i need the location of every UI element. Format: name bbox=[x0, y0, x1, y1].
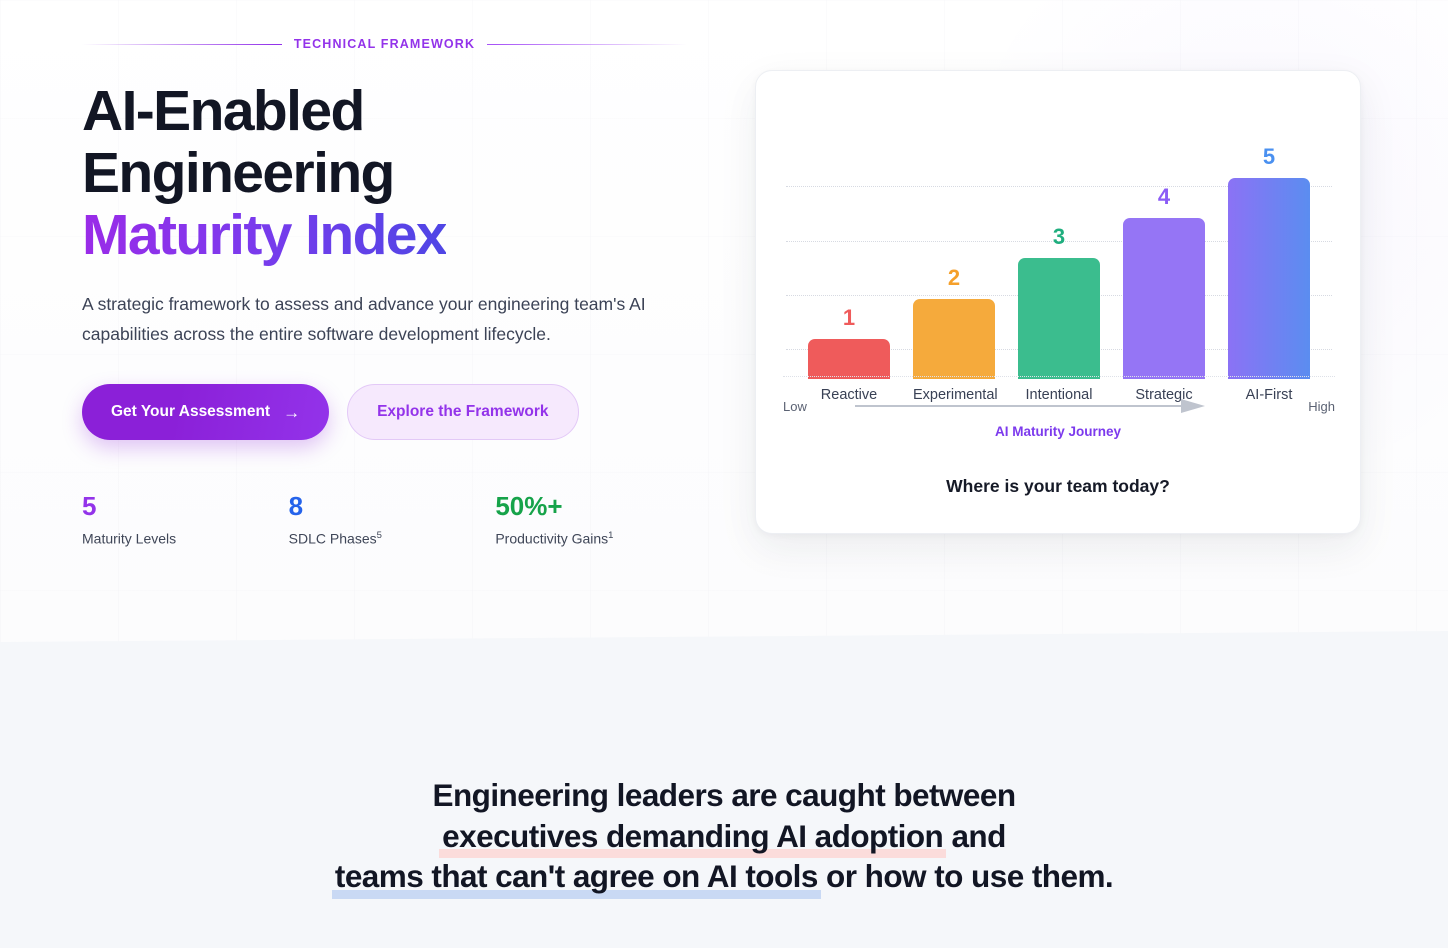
bar-value-label: 3 bbox=[1053, 226, 1065, 248]
hero-page: TECHNICAL FRAMEWORK AI-Enabled Engineeri… bbox=[0, 0, 1448, 948]
hero-subtitle: A strategic framework to assess and adva… bbox=[82, 290, 647, 349]
stat-productivity-gains: 50%+ Productivity Gains1 bbox=[495, 493, 702, 547]
page-title: AI-Enabled Engineering Maturity Index bbox=[82, 80, 702, 266]
bar-value-label: 2 bbox=[948, 267, 960, 289]
stat-label-text: Maturity Levels bbox=[82, 531, 176, 547]
bar-value-label: 1 bbox=[843, 307, 855, 329]
cta-row: Get Your Assessment → Explore the Framew… bbox=[82, 384, 702, 440]
arrow-right-icon: → bbox=[283, 404, 300, 421]
stat-label: Productivity Gains1 bbox=[495, 530, 702, 547]
title-line-3: Maturity Index bbox=[82, 204, 446, 266]
scale-arrow-track bbox=[855, 399, 1263, 413]
highlight-executives: executives demanding AI adoption bbox=[442, 816, 943, 857]
stats-row: 5 Maturity Levels 8 SDLC Phases5 50%+ Pr… bbox=[82, 493, 702, 547]
stat-maturity-levels: 5 Maturity Levels bbox=[82, 493, 289, 547]
statement-line-2-post: and bbox=[943, 818, 1006, 854]
bar-chart: 12345 bbox=[786, 94, 1332, 379]
hero-left-column: TECHNICAL FRAMEWORK AI-Enabled Engineeri… bbox=[82, 30, 702, 547]
bar[interactable] bbox=[1018, 258, 1100, 379]
stat-label-text: SDLC Phases bbox=[289, 531, 377, 547]
statement-line-3-post: or how to use them. bbox=[818, 858, 1113, 894]
maturity-scale: Low High bbox=[783, 391, 1335, 421]
statement-line-2: executives demanding AI adoption and bbox=[0, 816, 1448, 857]
eyebrow-divider-right bbox=[487, 44, 687, 45]
eyebrow-label: TECHNICAL FRAMEWORK bbox=[282, 37, 487, 51]
get-assessment-label: Get Your Assessment bbox=[111, 403, 270, 421]
bar-column[interactable]: 5 bbox=[1228, 124, 1310, 379]
bar[interactable] bbox=[913, 299, 995, 379]
bar-value-label: 4 bbox=[1158, 186, 1170, 208]
bar[interactable] bbox=[1123, 218, 1205, 379]
scale-high-label: High bbox=[1287, 399, 1335, 414]
title-line-1: AI-Enabled bbox=[82, 79, 364, 143]
stat-sdlc-phases: 8 SDLC Phases5 bbox=[289, 493, 496, 547]
bar[interactable] bbox=[808, 339, 890, 379]
bar[interactable] bbox=[1228, 178, 1310, 379]
problem-statement: Engineering leaders are caught between e… bbox=[0, 775, 1448, 897]
card-question: Where is your team today? bbox=[756, 476, 1360, 497]
bar-column[interactable]: 1 bbox=[808, 124, 890, 379]
statement-line-3: teams that can't agree on AI tools or ho… bbox=[0, 856, 1448, 897]
bar-value-label: 5 bbox=[1263, 146, 1275, 168]
stat-label: SDLC Phases5 bbox=[289, 530, 496, 547]
scale-low-label: Low bbox=[783, 399, 831, 414]
stat-value: 5 bbox=[82, 493, 289, 519]
bar-column[interactable]: 2 bbox=[913, 124, 995, 379]
journey-caption: AI Maturity Journey bbox=[756, 424, 1360, 439]
stat-label: Maturity Levels bbox=[82, 530, 289, 547]
title-line-2: Engineering bbox=[82, 141, 394, 205]
bar-column[interactable]: 3 bbox=[1018, 124, 1100, 379]
bar-column[interactable]: 4 bbox=[1123, 124, 1205, 379]
eyebrow: TECHNICAL FRAMEWORK bbox=[82, 30, 687, 58]
stat-value: 8 bbox=[289, 493, 496, 519]
statement-line-1: Engineering leaders are caught between bbox=[0, 775, 1448, 816]
highlight-teams: teams that can't agree on AI tools bbox=[335, 856, 818, 897]
chart-bars: 12345 bbox=[786, 124, 1332, 379]
explore-framework-button[interactable]: Explore the Framework bbox=[347, 384, 578, 440]
stat-value: 50%+ bbox=[495, 493, 702, 519]
get-assessment-button[interactable]: Get Your Assessment → bbox=[82, 384, 329, 440]
chart-divider bbox=[783, 376, 1335, 377]
stat-label-text: Productivity Gains bbox=[495, 531, 608, 547]
stat-footnote: 1 bbox=[608, 530, 613, 541]
eyebrow-divider-left bbox=[82, 44, 282, 45]
maturity-chart-card: 12345 ReactiveExperimentalIntentionalStr… bbox=[755, 70, 1361, 534]
stat-footnote: 5 bbox=[377, 530, 382, 541]
explore-framework-label: Explore the Framework bbox=[377, 403, 548, 421]
arrow-right-icon bbox=[855, 399, 1205, 413]
